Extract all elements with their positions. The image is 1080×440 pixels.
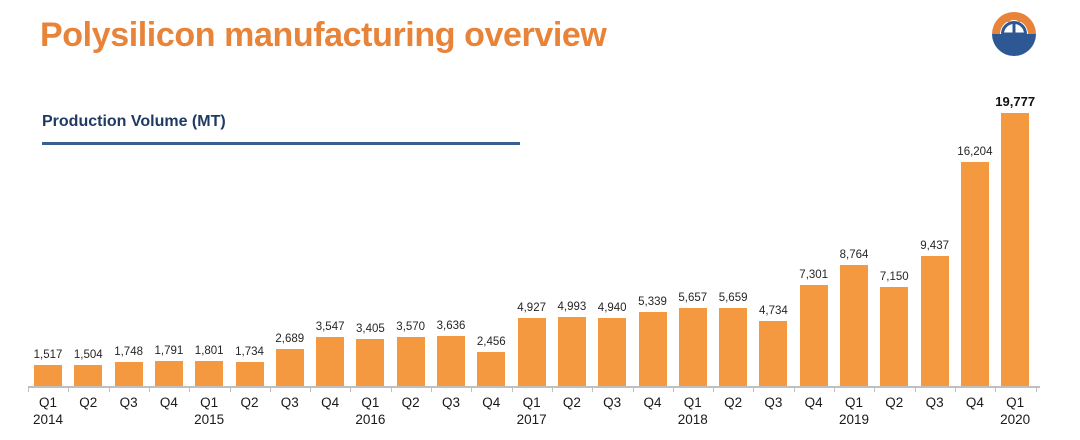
bar-slot: 4,927 xyxy=(512,95,552,386)
x-axis-tick xyxy=(28,386,29,392)
x-axis-tick xyxy=(592,386,593,392)
x-axis-label-group: Q3 xyxy=(109,394,149,411)
chart-bar[interactable] xyxy=(195,361,223,386)
chart-bar[interactable] xyxy=(598,318,626,386)
chart-bar[interactable] xyxy=(155,361,183,386)
x-axis-quarter-label: Q3 xyxy=(109,394,149,411)
x-axis-label-group: Q12018 xyxy=(673,394,713,428)
x-axis-tick xyxy=(149,386,150,392)
bar-slot: 19,777 xyxy=(995,95,1035,386)
x-axis-quarter-label: Q2 xyxy=(713,394,753,411)
x-axis-tick xyxy=(753,386,754,392)
bar-slot: 1,801 xyxy=(189,95,229,386)
x-axis-label-group: Q12016 xyxy=(350,394,390,428)
chart-bar[interactable] xyxy=(719,308,747,386)
x-axis-tick xyxy=(270,386,271,392)
x-axis-year-label: 2017 xyxy=(512,411,552,428)
x-axis-label-group: Q2 xyxy=(713,394,753,411)
bar-slot: 4,940 xyxy=(592,95,632,386)
x-axis-tick xyxy=(713,386,714,392)
x-axis-label-group: Q3 xyxy=(592,394,632,411)
x-axis-year-label: 2014 xyxy=(28,411,68,428)
bar-slot: 2,689 xyxy=(270,95,310,386)
x-axis-quarter-label: Q4 xyxy=(955,394,995,411)
x-axis-quarter-label: Q2 xyxy=(874,394,914,411)
x-axis-quarter-label: Q1 xyxy=(189,394,229,411)
x-axis-quarter-label: Q4 xyxy=(149,394,189,411)
x-axis-year-label: 2015 xyxy=(189,411,229,428)
x-axis-quarter-label: Q2 xyxy=(68,394,108,411)
bar-slot: 5,657 xyxy=(673,95,713,386)
bar-slot: 3,547 xyxy=(310,95,350,386)
x-axis-tick xyxy=(673,386,674,392)
x-axis-quarter-label: Q3 xyxy=(270,394,310,411)
x-axis-tick xyxy=(68,386,69,392)
chart-bar[interactable] xyxy=(477,352,505,386)
bar-slot: 7,301 xyxy=(794,95,834,386)
x-axis-label-group: Q4 xyxy=(149,394,189,411)
x-axis-label-group: Q2 xyxy=(391,394,431,411)
x-axis-label-group: Q2 xyxy=(874,394,914,411)
x-axis-quarter-label: Q4 xyxy=(471,394,511,411)
x-axis-label-group: Q2 xyxy=(68,394,108,411)
x-axis-quarter-label: Q3 xyxy=(753,394,793,411)
x-axis-quarter-label: Q2 xyxy=(391,394,431,411)
x-axis-label-group: Q3 xyxy=(431,394,471,411)
chart-bar[interactable] xyxy=(518,318,546,386)
chart-bar[interactable] xyxy=(397,337,425,386)
chart-bar[interactable] xyxy=(961,162,989,386)
bar-slot: 8,764 xyxy=(834,95,874,386)
x-axis-line xyxy=(28,386,1040,388)
x-axis-label-group: Q3 xyxy=(753,394,793,411)
x-axis-tick xyxy=(955,386,956,392)
x-axis-label-group: Q12017 xyxy=(512,394,552,428)
x-axis-tick xyxy=(471,386,472,392)
bar-slot: 4,734 xyxy=(753,95,793,386)
chart-bar[interactable] xyxy=(880,287,908,386)
chart-bar[interactable] xyxy=(1001,113,1029,386)
x-axis-quarter-label: Q3 xyxy=(431,394,471,411)
x-axis-tick xyxy=(109,386,110,392)
chart-bar[interactable] xyxy=(759,321,787,386)
x-axis-quarter-label: Q1 xyxy=(995,394,1035,411)
production-volume-bar-chart: 1,5171,5041,7481,7911,8011,7342,6893,547… xyxy=(0,0,1080,440)
bar-slot: 5,659 xyxy=(713,95,753,386)
x-axis-quarter-label: Q4 xyxy=(794,394,834,411)
x-axis-label-group: Q12014 xyxy=(28,394,68,428)
x-axis-year-label: 2020 xyxy=(995,411,1035,428)
bar-value-label: 19,777 xyxy=(987,94,1043,109)
chart-bar[interactable] xyxy=(558,317,586,386)
bar-slot: 1,791 xyxy=(149,95,189,386)
x-axis-label-group: Q3 xyxy=(915,394,955,411)
chart-bar[interactable] xyxy=(236,362,264,386)
x-axis-tick xyxy=(391,386,392,392)
x-axis-quarter-label: Q3 xyxy=(592,394,632,411)
x-axis-tick xyxy=(794,386,795,392)
bar-slot: 3,405 xyxy=(350,95,390,386)
bar-slot: 9,437 xyxy=(915,95,955,386)
bar-slot: 16,204 xyxy=(955,95,995,386)
x-axis-quarter-label: Q1 xyxy=(28,394,68,411)
bar-slot: 4,993 xyxy=(552,95,592,386)
x-axis-tick xyxy=(431,386,432,392)
x-axis-year-label: 2016 xyxy=(350,411,390,428)
x-axis-quarter-label: Q3 xyxy=(915,394,955,411)
x-axis-quarter-label: Q2 xyxy=(230,394,270,411)
x-axis-quarter-label: Q1 xyxy=(673,394,713,411)
chart-bar[interactable] xyxy=(276,349,304,386)
x-axis-tick xyxy=(512,386,513,392)
x-axis-tick xyxy=(1036,386,1037,392)
x-axis-label-group: Q4 xyxy=(633,394,673,411)
bar-slot: 1,504 xyxy=(68,95,108,386)
x-axis-label-group: Q12019 xyxy=(834,394,874,428)
x-axis-tick xyxy=(189,386,190,392)
x-axis-label-group: Q2 xyxy=(230,394,270,411)
bar-slot: 5,339 xyxy=(633,95,673,386)
x-axis-tick xyxy=(834,386,835,392)
x-axis-tick xyxy=(874,386,875,392)
bar-slot: 3,570 xyxy=(391,95,431,386)
x-axis-tick xyxy=(350,386,351,392)
bar-slot: 1,517 xyxy=(28,95,68,386)
x-axis-quarter-label: Q1 xyxy=(350,394,390,411)
chart-bar[interactable] xyxy=(74,365,102,386)
x-axis-label-group: Q12015 xyxy=(189,394,229,428)
x-axis-tick xyxy=(310,386,311,392)
chart-bar[interactable] xyxy=(840,265,868,386)
chart-bar[interactable] xyxy=(921,256,949,386)
bar-slot: 2,456 xyxy=(471,95,511,386)
x-axis-label-group: Q4 xyxy=(794,394,834,411)
x-axis-quarter-label: Q4 xyxy=(633,394,673,411)
chart-plot-area: 1,5171,5041,7481,7911,8011,7342,6893,547… xyxy=(28,95,1044,386)
x-axis-quarter-label: Q1 xyxy=(512,394,552,411)
x-axis-quarter-label: Q1 xyxy=(834,394,874,411)
x-axis-year-label: 2018 xyxy=(673,411,713,428)
x-axis-label-group: Q4 xyxy=(310,394,350,411)
bar-slot: 1,748 xyxy=(109,95,149,386)
x-axis-label-group: Q4 xyxy=(471,394,511,411)
x-axis-label-group: Q3 xyxy=(270,394,310,411)
x-axis-label-group: Q4 xyxy=(955,394,995,411)
x-axis-year-label: 2019 xyxy=(834,411,874,428)
x-axis-quarter-label: Q2 xyxy=(552,394,592,411)
chart-bar[interactable] xyxy=(316,337,344,386)
chart-bar[interactable] xyxy=(679,308,707,386)
chart-bar[interactable] xyxy=(115,362,143,386)
chart-bar[interactable] xyxy=(34,365,62,386)
x-axis-label-group: Q2 xyxy=(552,394,592,411)
chart-bar[interactable] xyxy=(639,312,667,386)
x-axis-tick xyxy=(995,386,996,392)
chart-bar[interactable] xyxy=(800,285,828,386)
x-axis-tick xyxy=(915,386,916,392)
x-axis-tick xyxy=(552,386,553,392)
x-axis-label-group: Q12020 xyxy=(995,394,1035,428)
x-axis-tick xyxy=(230,386,231,392)
x-axis-tick xyxy=(633,386,634,392)
chart-bar[interactable] xyxy=(356,339,384,386)
chart-bar[interactable] xyxy=(437,336,465,386)
x-axis-quarter-label: Q4 xyxy=(310,394,350,411)
